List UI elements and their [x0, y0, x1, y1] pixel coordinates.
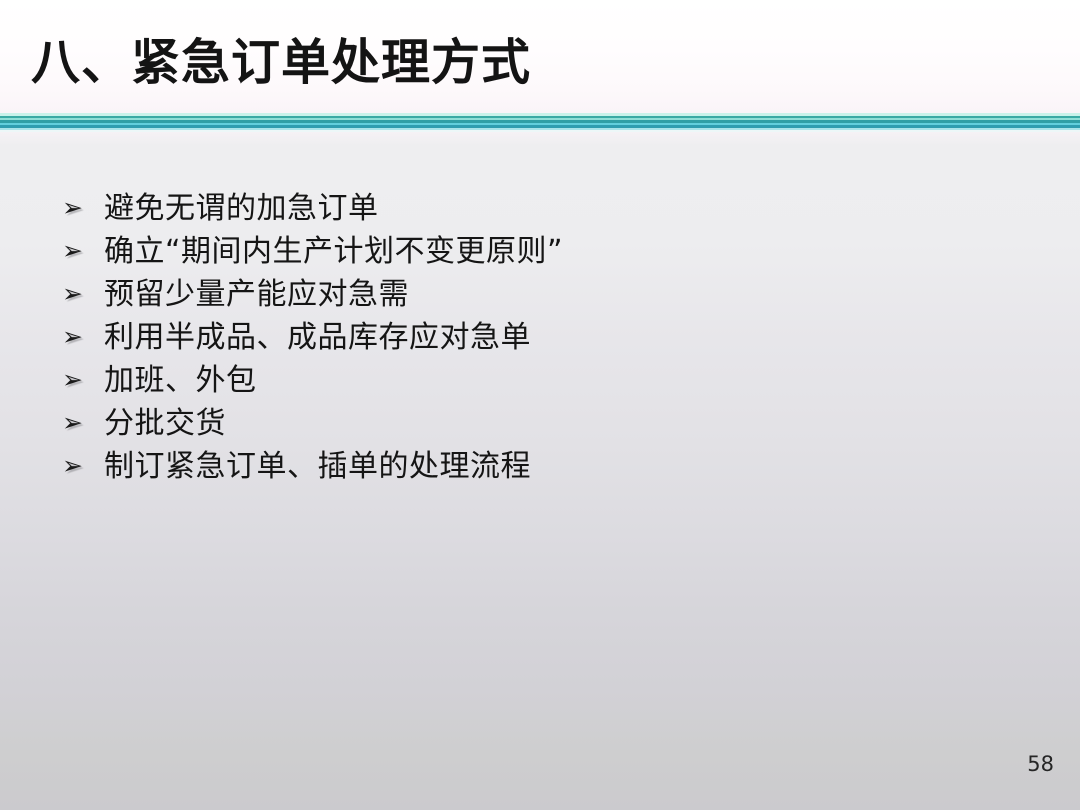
- list-item-label: 分批交货: [104, 405, 226, 443]
- list-item-label: 预留少量产能应对急需: [104, 276, 409, 314]
- list-item: ➢ 避免无谓的加急订单: [0, 190, 1080, 233]
- list-item: ➢ 分批交货: [0, 405, 1080, 448]
- arrow-bullet-icon: ➢: [62, 190, 104, 226]
- arrow-bullet-icon: ➢: [62, 276, 104, 312]
- arrow-bullet-icon: ➢: [62, 405, 104, 441]
- bullet-list: ➢ 避免无谓的加急订单 ➢ 确立“期间内生产计划不变更原则” ➢ 预留少量产能应…: [0, 190, 1080, 491]
- list-item-label: 加班、外包: [104, 362, 257, 400]
- title-divider: [0, 113, 1080, 132]
- list-item: ➢ 加班、外包: [0, 362, 1080, 405]
- arrow-bullet-icon: ➢: [62, 233, 104, 269]
- list-item-label: 制订紧急订单、插单的处理流程: [104, 448, 531, 486]
- arrow-bullet-icon: ➢: [62, 319, 104, 355]
- title-area: 八、紧急订单处理方式: [0, 0, 1080, 112]
- slide-canvas: 八、紧急订单处理方式 ➢ 避免无谓的加急订单 ➢ 确立“期间内生产计划不变更原则…: [0, 0, 1080, 810]
- list-item: ➢ 制订紧急订单、插单的处理流程: [0, 448, 1080, 491]
- page-title: 八、紧急订单处理方式: [31, 33, 531, 93]
- list-item-label: 确立“期间内生产计划不变更原则”: [104, 233, 563, 271]
- list-item: ➢ 预留少量产能应对急需: [0, 276, 1080, 319]
- divider-line-8: [0, 130, 1080, 132]
- list-item: ➢ 确立“期间内生产计划不变更原则”: [0, 233, 1080, 276]
- page-number: 58: [1027, 752, 1054, 776]
- list-item-label: 避免无谓的加急订单: [104, 190, 379, 228]
- arrow-bullet-icon: ➢: [62, 362, 104, 398]
- list-item-label: 利用半成品、成品库存应对急单: [104, 319, 531, 357]
- arrow-bullet-icon: ➢: [62, 448, 104, 484]
- list-item: ➢ 利用半成品、成品库存应对急单: [0, 319, 1080, 362]
